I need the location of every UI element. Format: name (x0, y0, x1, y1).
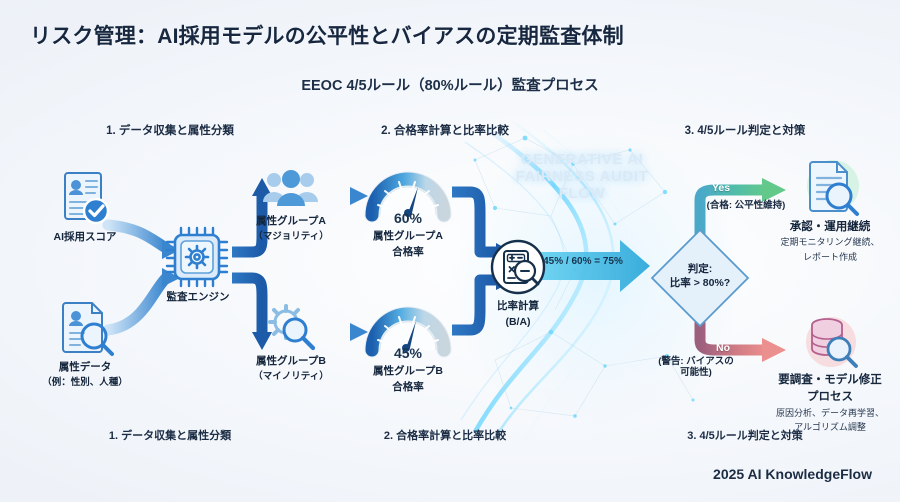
node-ratio-calc-label: 比率計算 (482, 300, 554, 313)
node-group-b-sub: （マイノリティ） (248, 371, 334, 383)
node-attribute-data-label: 属性データ (38, 361, 132, 374)
node-gauge-a-label2: 合格率 (362, 246, 454, 259)
calculator-search-icon (489, 238, 547, 296)
people-group-icon (260, 168, 322, 210)
node-remediate-desc1: 原因分析、データ再学習、 (758, 408, 900, 419)
document-search-icon (54, 300, 116, 358)
decision-line2: 比率 > 80%? (650, 276, 750, 290)
node-approve: 承認・運用継続 定期モニタリング継続、 レポート作成 (762, 160, 898, 263)
node-attribute-data: 属性データ （例：性別、人種） (38, 300, 132, 389)
node-gauge-a: 60% 属性グループA 合格率 (362, 165, 454, 259)
node-gauge-a-label: 属性グループA (362, 230, 454, 243)
gauge-a-value-text: 60% (394, 210, 423, 226)
document-check-icon (55, 170, 115, 228)
chip-gear-icon (165, 226, 231, 288)
node-ai-score-label: AI採用スコア (42, 231, 128, 244)
node-gauge-b: 45% 属性グループB 合格率 (362, 300, 454, 394)
gauge-icon: 60% (366, 165, 450, 227)
node-audit-engine: 監査エンジン (160, 226, 236, 304)
node-remediate-title2: プロセス (758, 390, 900, 404)
node-group-a: 属性グループA （マジョリティ） (248, 168, 334, 243)
node-ratio-calc: 比率計算 (B/A) (482, 238, 554, 329)
node-approve-desc2: レポート作成 (762, 252, 898, 263)
node-group-b-label: 属性グループB (248, 355, 334, 368)
watermark-text: GENERATIVE AI FAIRNESS AUDIT FLOW (492, 152, 672, 202)
node-remediate-desc2: アルゴリズム調整 (758, 422, 900, 433)
node-remediate-title: 要調査・モデル修正 (758, 373, 900, 387)
decision-line1: 判定: (650, 262, 750, 276)
node-decision: 判定: 比率 > 80%? (650, 228, 750, 328)
node-approve-title: 承認・運用継続 (762, 220, 898, 234)
node-ratio-calc-label2: (B/A) (482, 316, 554, 329)
node-audit-engine-label: 監査エンジン (160, 291, 236, 304)
node-group-a-label: 属性グループA (248, 215, 334, 228)
node-remediate: 要調査・モデル修正 プロセス 原因分析、データ再学習、 アルゴリズム調整 (758, 316, 900, 433)
infographic-canvas: リスク管理：AI採用モデルの公平性とバイアスの定期監査体制 EEOC 4/5ルー… (0, 0, 900, 502)
gear-search-icon (262, 302, 320, 352)
node-group-a-sub: （マジョリティ） (248, 231, 334, 243)
database-search-icon (799, 316, 861, 370)
node-attribute-data-sub: （例：性別、人種） (38, 377, 132, 389)
node-ai-score: AI採用スコア (42, 170, 128, 244)
document-search-icon (799, 160, 861, 216)
node-group-b: 属性グループB （マイノリティ） (248, 302, 334, 383)
gauge-icon: 45% (366, 300, 450, 362)
branch-no-label: No (716, 342, 730, 354)
node-approve-desc1: 定期モニタリング継続、 (762, 237, 898, 248)
node-gauge-b-label: 属性グループB (362, 365, 454, 378)
branch-no-note: (警告: バイアスの 可能性) (626, 356, 766, 379)
branch-yes-label: Yes (712, 182, 730, 194)
node-gauge-b-label2: 合格率 (362, 381, 454, 394)
gauge-b-value-text: 45% (394, 345, 423, 361)
